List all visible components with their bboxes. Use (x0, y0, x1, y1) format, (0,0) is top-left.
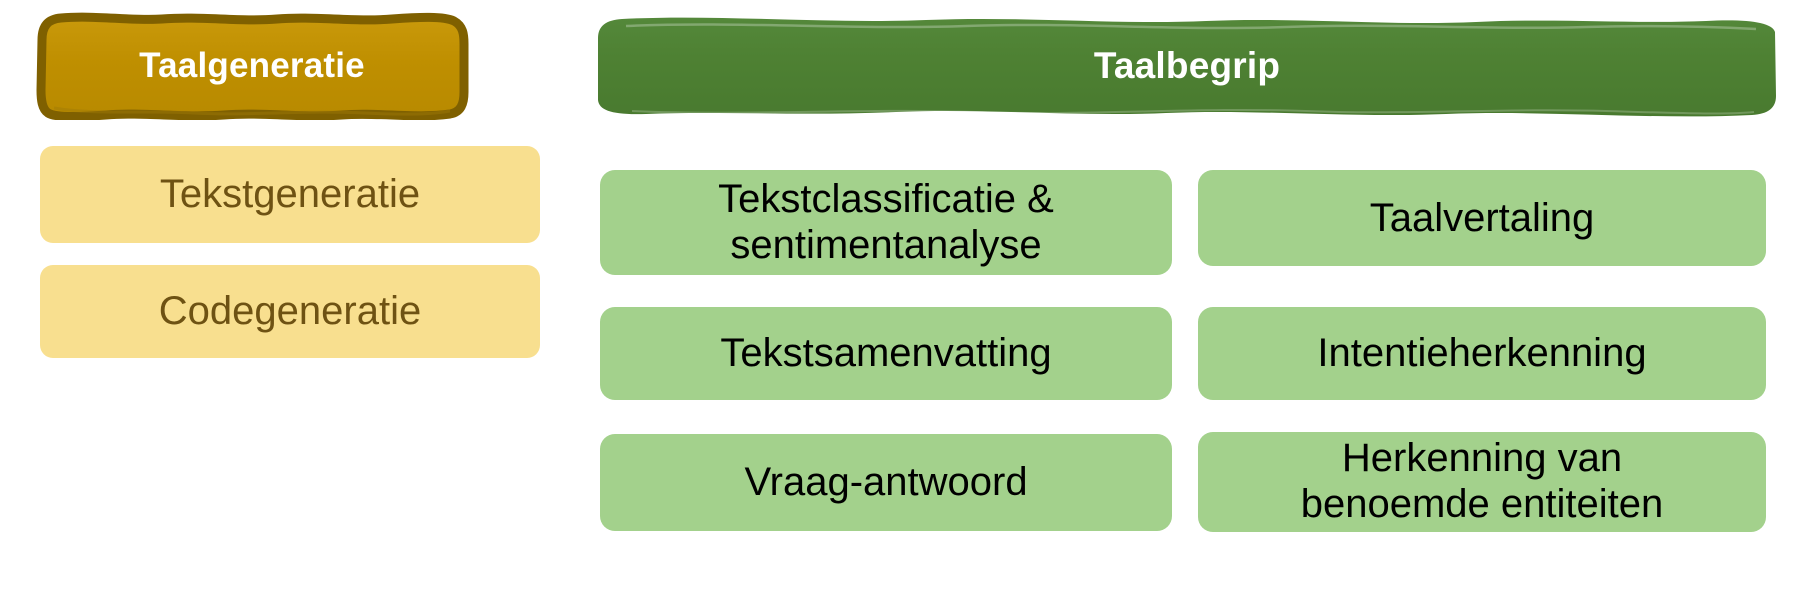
card-tekstclassificatie-label: Tekstclassificatie & sentimentanalyse (614, 177, 1158, 268)
card-codegeneratie[interactable]: Codegeneratie (40, 265, 540, 358)
card-tekstclassificatie-line2: sentimentanalyse (730, 223, 1041, 267)
card-tekstgeneratie-label: Tekstgeneratie (54, 172, 526, 217)
card-intentieherkenning-label: Intentieherkenning (1212, 331, 1752, 376)
card-taalvertaling-label: Taalvertaling (1212, 196, 1752, 241)
card-intentieherkenning[interactable]: Intentieherkenning (1198, 307, 1766, 400)
header-taalbegrip[interactable]: Taalbegrip (596, 12, 1778, 120)
card-vraag-antwoord[interactable]: Vraag-antwoord (600, 434, 1172, 531)
card-benoemde-entiteiten-line2: benoemde entiteiten (1301, 482, 1664, 526)
card-tekstclassificatie-line1: Tekstclassificatie & (718, 177, 1054, 221)
card-taalvertaling[interactable]: Taalvertaling (1198, 170, 1766, 266)
diagram-canvas: Taalgeneratie Taalbegrip Tekstgeneratie … (0, 0, 1808, 592)
card-herkenning-benoemde-entiteiten[interactable]: Herkenning van benoemde entiteiten (1198, 432, 1766, 532)
card-tekstclassificatie-sentimentanalyse[interactable]: Tekstclassificatie & sentimentanalyse (600, 170, 1172, 275)
card-tekstsamenvatting-label: Tekstsamenvatting (614, 331, 1158, 376)
card-codegeneratie-label: Codegeneratie (54, 289, 526, 334)
card-tekstgeneratie[interactable]: Tekstgeneratie (40, 146, 540, 243)
header-taalgeneratie-label: Taalgeneratie (139, 48, 365, 85)
card-tekstsamenvatting[interactable]: Tekstsamenvatting (600, 307, 1172, 400)
header-taalgeneratie[interactable]: Taalgeneratie (34, 12, 470, 120)
card-vraag-antwoord-label: Vraag-antwoord (614, 460, 1158, 505)
card-benoemde-entiteiten-label: Herkenning van benoemde entiteiten (1212, 436, 1752, 527)
card-benoemde-entiteiten-line1: Herkenning van (1342, 436, 1622, 480)
header-taalbegrip-label: Taalbegrip (1094, 47, 1280, 86)
